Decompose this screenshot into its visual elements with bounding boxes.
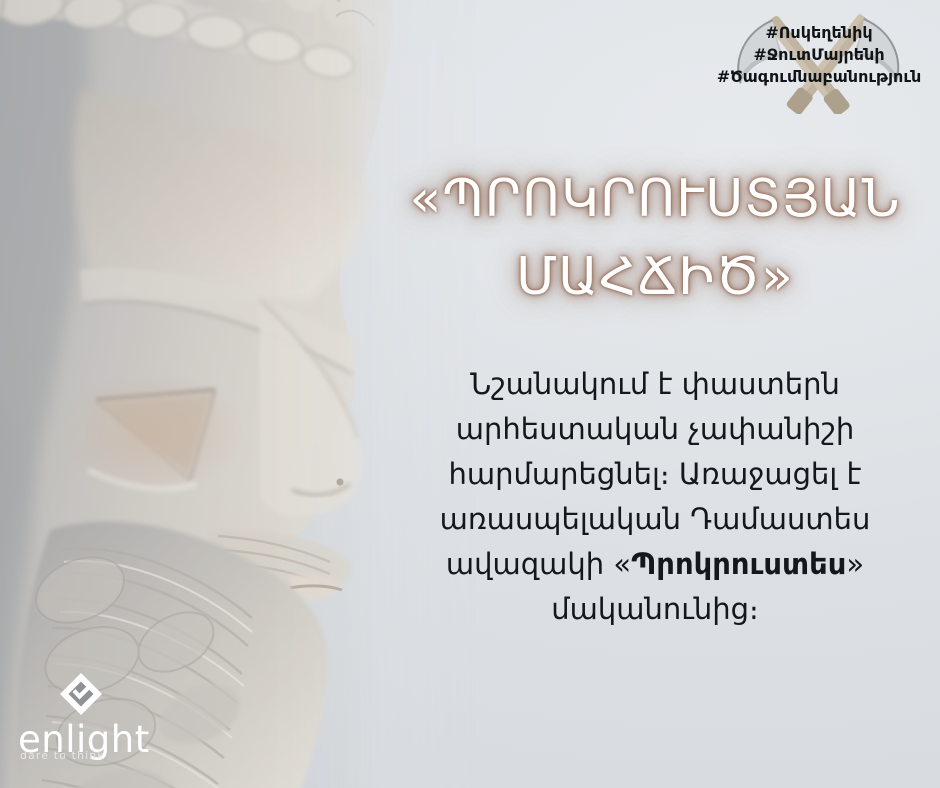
- title-line-1: «ՊՐՈԿՐՈՒՍՏՅԱՆ: [400, 160, 910, 238]
- title-line-2: ՄԱՀՃԻԾ»: [400, 238, 910, 316]
- enlight-diamond-icon: [58, 671, 104, 717]
- body-line-5: ավազակի «Պրոկրուստես»: [400, 542, 910, 587]
- hashtag-line-1: #Ոսկեղենիկ: [706, 22, 932, 44]
- definition-text: Նշանակում է փաստերն արհեստական չափանիշի …: [400, 362, 910, 632]
- logo-tagline: dare to think: [20, 750, 188, 762]
- body-line-6: մականունից։: [400, 587, 910, 632]
- hashtag-group: #Ոսկեղենիկ #ՋուտՄայրենի #Ծագումնաբանությ…: [706, 22, 932, 88]
- hashtag-line-3: #Ծագումնաբանություն: [706, 66, 932, 88]
- body-line-4: առասպելական Դամաստես: [400, 497, 910, 542]
- body-line-1: Նշանակում է փաստերն: [400, 362, 910, 407]
- poster-canvas: #Ոսկեղենիկ #ՋուտՄայրենի #Ծագումնաբանությ…: [0, 0, 940, 788]
- brand-logo[interactable]: enlight dare to think: [18, 671, 188, 762]
- body-line-5-emphasis: Պրոկրուստես: [631, 547, 846, 581]
- body-line-5-prefix: ավազակի «: [446, 547, 631, 581]
- page-title: «ՊՐՈԿՐՈՒՍՏՅԱՆ ՄԱՀՃԻԾ»: [400, 160, 910, 316]
- body-line-5-suffix: »: [846, 547, 864, 581]
- body-line-3: հարմարեցնել։ Առաջացել է: [400, 452, 910, 497]
- body-line-2: արհեստական չափանիշի: [400, 407, 910, 452]
- hashtag-line-2: #ՋուտՄայրենի: [706, 44, 932, 66]
